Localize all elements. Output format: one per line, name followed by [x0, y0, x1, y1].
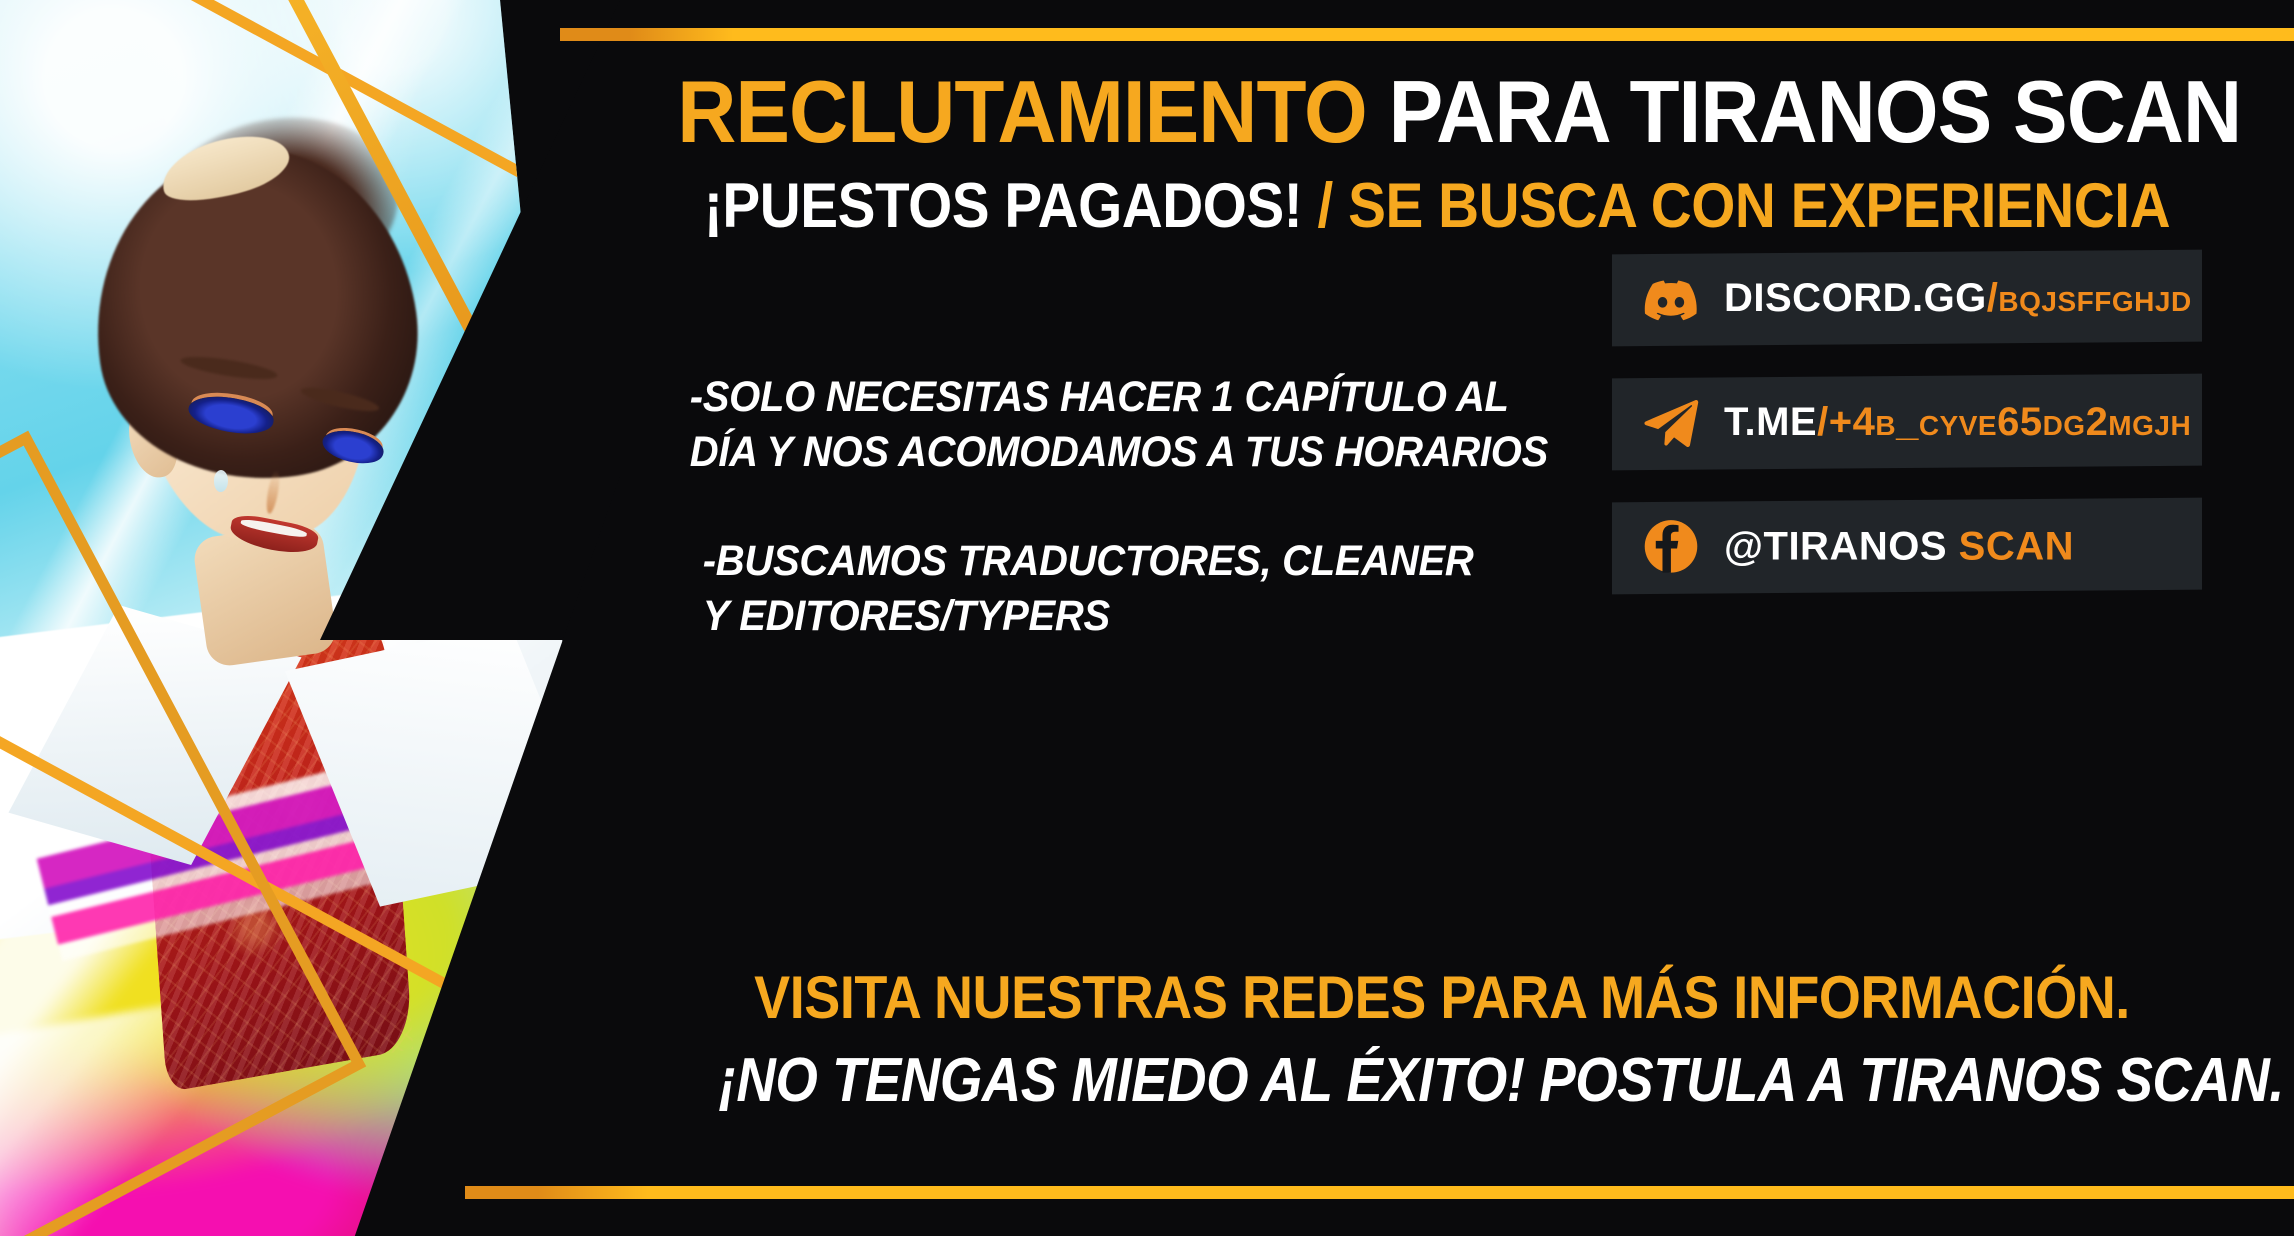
contact-facebook-separator: [1947, 524, 1959, 568]
contact-facebook[interactable]: @TIRANOS SCAN: [1612, 498, 2202, 595]
contact-telegram-prefix: T.ME: [1724, 399, 1817, 443]
title-highlight: RECLUTAMIENTO: [677, 62, 1367, 161]
contact-discord-code: bQJsFFgHJd: [1998, 275, 2191, 319]
content-area: RECLUTAMIENTO PARA TIRANOS SCAN ¡PUESTOS…: [620, 0, 2294, 1236]
contact-discord-separator: /: [1987, 275, 1999, 319]
page-title: RECLUTAMIENTO PARA TIRANOS SCAN: [677, 68, 2197, 156]
contact-telegram-text: T.ME/+4B_CyVe65dg2MGJh: [1724, 399, 2191, 444]
requirement-line: -SOLO NECESITAS HACER 1 CAPÍTULO AL: [690, 370, 1481, 425]
contact-facebook-code: SCAN: [1959, 524, 2074, 568]
cta-line-one: VISITA NUESTRAS REDES PARA MÁS INFORMACI…: [702, 964, 2182, 1031]
cta-line-two: ¡NO TENGAS MIEDO AL ÉXITO! POSTULA A TIR…: [719, 1045, 2166, 1116]
contact-telegram-code: +4B_CyVe65dg2MGJh: [1829, 399, 2191, 443]
contact-telegram[interactable]: T.ME/+4B_CyVe65dg2MGJh: [1612, 374, 2202, 471]
gold-rule-bottom: [465, 1186, 2294, 1199]
contact-facebook-text: @TIRANOS SCAN: [1724, 524, 2074, 569]
facebook-icon: [1642, 517, 1700, 575]
contact-discord[interactable]: DISCORD.GG/bQJsFFgHJd: [1612, 250, 2202, 347]
requirement-line: -BUSCAMOS TRADUCTORES, CLEANER: [690, 534, 1481, 589]
subtitle-experience: / SE BUSCA CON EXPERIENCIA: [1302, 171, 2170, 241]
requirement-item: -SOLO NECESITAS HACER 1 CAPÍTULO AL DÍA …: [660, 370, 1510, 480]
requirement-line: Y EDITORES/TYPERS: [690, 589, 1481, 644]
contact-discord-prefix: DISCORD.GG: [1724, 275, 1987, 319]
contact-telegram-separator: /: [1817, 399, 1829, 443]
contact-facebook-prefix: @TIRANOS: [1724, 524, 1947, 568]
requirement-item: -BUSCAMOS TRADUCTORES, CLEANER Y EDITORE…: [660, 534, 1510, 644]
contact-list: DISCORD.GG/bQJsFFgHJd T.ME/+4B_CyVe65dg2…: [1612, 252, 2202, 624]
requirements-list: -SOLO NECESITAS HACER 1 CAPÍTULO AL DÍA …: [660, 370, 1510, 698]
discord-icon: [1642, 269, 1700, 327]
contact-discord-text: DISCORD.GG/bQJsFFgHJd: [1724, 275, 2192, 320]
recruitment-banner: RECLUTAMIENTO PARA TIRANOS SCAN ¡PUESTOS…: [0, 0, 2294, 1236]
page-subtitle: ¡PUESTOS PAGADOS! / SE BUSCA CON EXPERIE…: [702, 175, 2173, 238]
call-to-action: VISITA NUESTRAS REDES PARA MÁS INFORMACI…: [620, 964, 2264, 1116]
requirement-line: DÍA Y NOS ACOMODAMOS A TUS HORARIOS: [690, 425, 1481, 480]
artwork-panel: [0, 0, 620, 1236]
subtitle-paid: ¡PUESTOS PAGADOS!: [704, 171, 1302, 241]
telegram-icon: [1642, 393, 1700, 451]
gold-rule-top: [560, 28, 2294, 41]
title-rest: PARA TIRANOS SCAN: [1367, 62, 2241, 161]
